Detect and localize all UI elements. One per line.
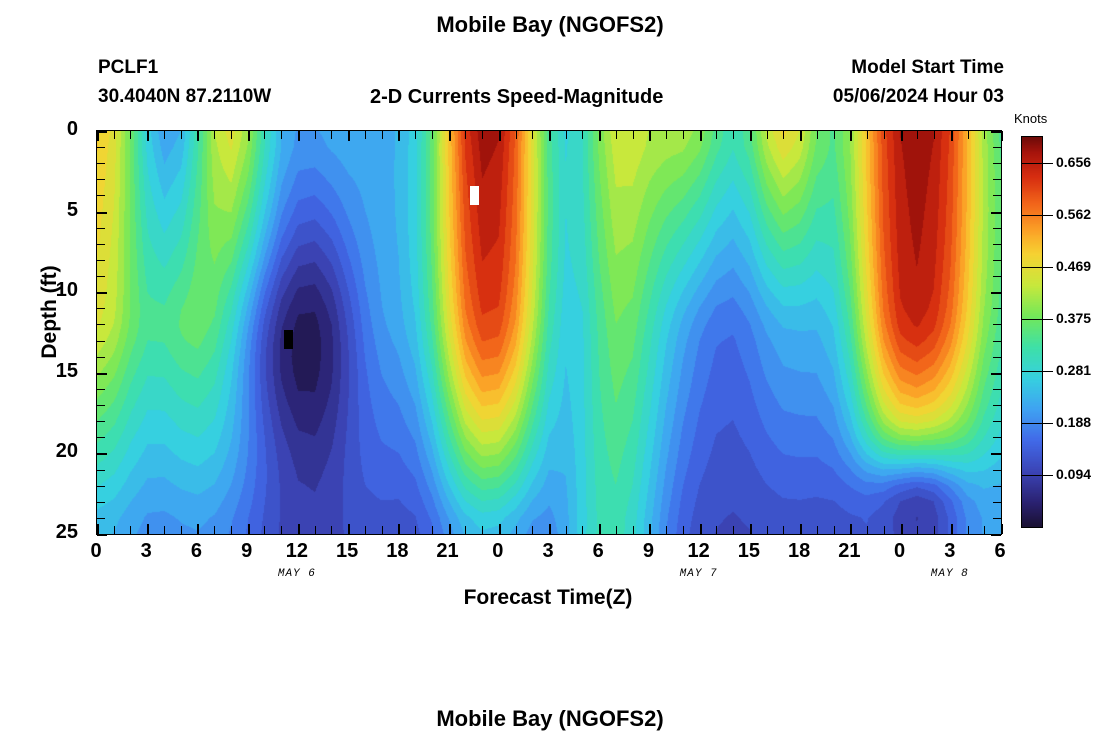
y-tick <box>97 373 107 375</box>
max-value-marker <box>470 186 479 205</box>
x-tick <box>382 131 383 139</box>
x-tick-label: 12 <box>679 540 719 563</box>
y-tick <box>991 131 1001 133</box>
colorbar-tick-label: 0.094 <box>1056 466 1091 482</box>
x-tick-label: 6 <box>578 540 618 563</box>
x-tick <box>482 526 483 534</box>
y-tick <box>97 518 105 519</box>
y-tick <box>993 421 1001 422</box>
x-tick <box>951 131 953 141</box>
x-tick <box>365 526 366 534</box>
x-tick-label: 9 <box>227 540 267 563</box>
x-tick <box>432 526 433 534</box>
y-tick <box>97 292 107 294</box>
x-tick <box>315 526 316 534</box>
y-tick <box>991 373 1001 375</box>
x-tick <box>465 131 466 139</box>
y-tick <box>991 292 1001 294</box>
x-tick <box>1001 131 1003 141</box>
x-tick <box>817 131 818 139</box>
x-tick <box>884 131 885 139</box>
colorbar-tick <box>1043 423 1053 424</box>
y-tick <box>993 437 1001 438</box>
x-tick <box>365 131 366 139</box>
y-tick <box>991 453 1001 455</box>
y-tick <box>97 195 105 196</box>
colorbar-tick-label: 0.562 <box>1056 206 1091 222</box>
y-tick <box>991 534 1001 536</box>
x-tick <box>130 526 131 534</box>
x-tick <box>616 526 617 534</box>
y-tick <box>97 147 105 148</box>
y-tick <box>97 212 107 214</box>
x-tick <box>917 131 918 139</box>
colorbar-tick <box>1043 475 1053 476</box>
x-tick <box>683 526 684 534</box>
x-tick <box>716 526 717 534</box>
x-tick <box>248 524 250 534</box>
x-tick <box>750 131 752 141</box>
station-id-label: PCLF1 <box>98 57 158 79</box>
x-tick <box>633 131 634 139</box>
x-tick-label: 3 <box>528 540 568 563</box>
x-tick <box>465 526 466 534</box>
y-tick <box>993 518 1001 519</box>
x-tick <box>917 526 918 534</box>
x-tick <box>298 524 300 534</box>
x-tick <box>114 131 115 139</box>
heatmap-canvas <box>97 131 1001 534</box>
day-label: MAY 7 <box>659 568 739 580</box>
x-tick <box>700 131 702 141</box>
x-tick <box>114 526 115 534</box>
x-tick <box>231 526 232 534</box>
x-tick-label: 18 <box>377 540 417 563</box>
x-tick-label: 15 <box>327 540 367 563</box>
x-tick <box>884 526 885 534</box>
x-tick-label: 9 <box>628 540 668 563</box>
x-axis-title: Forecast Time(Z) <box>96 586 1000 610</box>
station-coordinates-label: 30.4040N 87.2110W <box>98 86 271 108</box>
x-tick <box>532 526 533 534</box>
x-tick <box>1001 524 1003 534</box>
x-tick <box>147 524 149 534</box>
x-tick <box>968 526 969 534</box>
x-tick <box>700 524 702 534</box>
colorbar-inner-tick <box>1022 215 1042 216</box>
x-tick <box>599 131 601 141</box>
y-tick <box>97 389 105 390</box>
x-tick <box>516 131 517 139</box>
colorbar-inner-tick <box>1022 267 1042 268</box>
x-tick <box>901 524 903 534</box>
x-tick <box>582 131 583 139</box>
x-tick <box>834 131 835 139</box>
y-tick <box>97 131 107 133</box>
x-tick <box>482 131 483 139</box>
y-tick <box>97 437 105 438</box>
x-tick <box>264 131 265 139</box>
x-tick <box>984 131 985 139</box>
x-tick-label: 3 <box>126 540 166 563</box>
y-tick <box>97 163 105 164</box>
x-tick <box>934 526 935 534</box>
x-tick <box>850 524 852 534</box>
colorbar-tick <box>1043 371 1053 372</box>
chart-subtitle: 2-D Currents Speed-Magnitude <box>370 86 663 109</box>
y-tick <box>97 341 105 342</box>
x-tick <box>767 131 768 139</box>
day-label: MAY 8 <box>910 568 990 580</box>
x-tick <box>214 526 215 534</box>
x-tick <box>348 524 350 534</box>
heatmap-plot-area <box>96 130 1002 535</box>
colorbar-inner-tick <box>1022 475 1042 476</box>
x-tick <box>934 131 935 139</box>
x-tick <box>733 526 734 534</box>
y-axis-title: Depth (ft) <box>38 232 62 392</box>
x-tick <box>315 131 316 139</box>
x-tick <box>499 131 501 141</box>
y-tick <box>993 357 1001 358</box>
x-tick <box>984 526 985 534</box>
y-tick <box>993 308 1001 309</box>
x-tick <box>164 526 165 534</box>
y-tick <box>97 405 105 406</box>
x-tick <box>398 524 400 534</box>
y-tick <box>993 405 1001 406</box>
y-tick <box>993 324 1001 325</box>
colorbar-tick <box>1043 319 1053 320</box>
y-tick <box>993 502 1001 503</box>
colorbar-inner-tick <box>1022 371 1042 372</box>
x-tick-label: 0 <box>880 540 920 563</box>
x-tick <box>951 524 953 534</box>
y-tick <box>993 341 1001 342</box>
x-tick <box>850 131 852 141</box>
x-tick <box>800 131 802 141</box>
x-tick-label: 6 <box>176 540 216 563</box>
x-tick <box>800 524 802 534</box>
x-tick <box>331 131 332 139</box>
y-tick <box>97 453 107 455</box>
x-tick <box>666 526 667 534</box>
x-tick <box>867 526 868 534</box>
x-tick-label: 18 <box>779 540 819 563</box>
colorbar-tick-label: 0.375 <box>1056 310 1091 326</box>
y-tick <box>993 179 1001 180</box>
page-title: Mobile Bay (NGOFS2) <box>0 12 1100 38</box>
x-tick <box>181 526 182 534</box>
x-tick <box>834 526 835 534</box>
x-tick <box>901 131 903 141</box>
x-tick <box>130 131 131 139</box>
y-tick <box>97 244 105 245</box>
x-tick-label: 21 <box>829 540 869 563</box>
x-tick <box>683 131 684 139</box>
x-tick <box>181 131 182 139</box>
x-tick <box>783 131 784 139</box>
y-tick <box>97 502 105 503</box>
x-tick <box>432 131 433 139</box>
colorbar-gradient <box>1021 136 1043 528</box>
x-tick <box>599 524 601 534</box>
colorbar-tick-label: 0.281 <box>1056 362 1091 378</box>
x-tick <box>197 131 199 141</box>
x-tick <box>783 526 784 534</box>
x-tick <box>549 131 551 141</box>
x-tick-label: 21 <box>428 540 468 563</box>
colorbar-tick-label: 0.469 <box>1056 258 1091 274</box>
x-tick <box>616 131 617 139</box>
colorbar-tick <box>1043 215 1053 216</box>
x-tick-label: 12 <box>277 540 317 563</box>
y-tick <box>97 357 105 358</box>
x-tick <box>633 526 634 534</box>
y-tick-label: 5 <box>38 199 78 222</box>
x-tick <box>231 131 232 139</box>
colorbar <box>1021 136 1043 528</box>
x-tick <box>716 131 717 139</box>
colorbar-tick <box>1043 267 1053 268</box>
colorbar-tick-label: 0.188 <box>1056 414 1091 430</box>
bottom-title: Mobile Bay (NGOFS2) <box>0 706 1100 732</box>
x-tick <box>649 131 651 141</box>
x-tick <box>767 526 768 534</box>
x-tick <box>97 524 99 534</box>
x-tick-label: 3 <box>930 540 970 563</box>
y-tick-label: 0 <box>38 118 78 141</box>
y-tick <box>97 324 105 325</box>
y-tick <box>97 179 105 180</box>
y-tick <box>993 147 1001 148</box>
x-tick <box>382 526 383 534</box>
y-tick <box>993 276 1001 277</box>
y-tick <box>993 228 1001 229</box>
x-tick <box>566 131 567 139</box>
day-label: MAY 6 <box>257 568 337 580</box>
x-tick <box>264 526 265 534</box>
x-tick <box>147 131 149 141</box>
y-tick <box>97 228 105 229</box>
y-tick <box>97 486 105 487</box>
x-tick <box>516 526 517 534</box>
y-tick <box>993 470 1001 471</box>
x-tick <box>281 131 282 139</box>
x-tick <box>566 526 567 534</box>
x-tick-label: 6 <box>980 540 1020 563</box>
x-tick <box>214 131 215 139</box>
colorbar-inner-tick <box>1022 423 1042 424</box>
x-tick <box>398 131 400 141</box>
x-tick <box>298 131 300 141</box>
colorbar-tick <box>1043 163 1053 164</box>
x-tick <box>582 526 583 534</box>
colorbar-inner-tick <box>1022 319 1042 320</box>
y-tick <box>993 389 1001 390</box>
y-tick <box>993 195 1001 196</box>
y-tick <box>97 421 105 422</box>
min-value-marker <box>284 330 293 349</box>
y-tick <box>97 534 107 536</box>
colorbar-title: Knots <box>1014 111 1047 126</box>
x-tick <box>532 131 533 139</box>
y-tick <box>97 276 105 277</box>
x-tick <box>549 524 551 534</box>
chart-page: Mobile Bay (NGOFS2) PCLF1 30.4040N 87.21… <box>0 0 1100 750</box>
x-tick <box>867 131 868 139</box>
x-tick-label: 15 <box>729 540 769 563</box>
y-tick-label: 20 <box>38 440 78 463</box>
x-tick <box>733 131 734 139</box>
y-tick <box>993 163 1001 164</box>
y-tick <box>97 470 105 471</box>
x-tick-label: 0 <box>478 540 518 563</box>
x-tick <box>415 131 416 139</box>
y-tick <box>993 244 1001 245</box>
x-tick-label: 0 <box>76 540 116 563</box>
x-tick <box>499 524 501 534</box>
x-tick <box>281 526 282 534</box>
x-tick <box>449 131 451 141</box>
x-tick <box>817 526 818 534</box>
y-tick <box>991 212 1001 214</box>
x-tick <box>968 131 969 139</box>
y-tick-label: 25 <box>38 521 78 544</box>
x-tick <box>348 131 350 141</box>
x-tick <box>750 524 752 534</box>
x-tick <box>164 131 165 139</box>
y-tick <box>993 486 1001 487</box>
x-tick <box>248 131 250 141</box>
x-tick <box>649 524 651 534</box>
x-tick <box>449 524 451 534</box>
y-tick <box>97 308 105 309</box>
x-tick <box>331 526 332 534</box>
y-tick <box>993 260 1001 261</box>
model-start-time-label: Model Start Time <box>851 57 1004 79</box>
x-tick <box>197 524 199 534</box>
colorbar-tick-label: 0.656 <box>1056 154 1091 170</box>
colorbar-inner-tick <box>1022 163 1042 164</box>
model-start-time-value: 05/06/2024 Hour 03 <box>833 86 1004 108</box>
x-tick <box>415 526 416 534</box>
y-tick <box>97 260 105 261</box>
x-tick <box>666 131 667 139</box>
